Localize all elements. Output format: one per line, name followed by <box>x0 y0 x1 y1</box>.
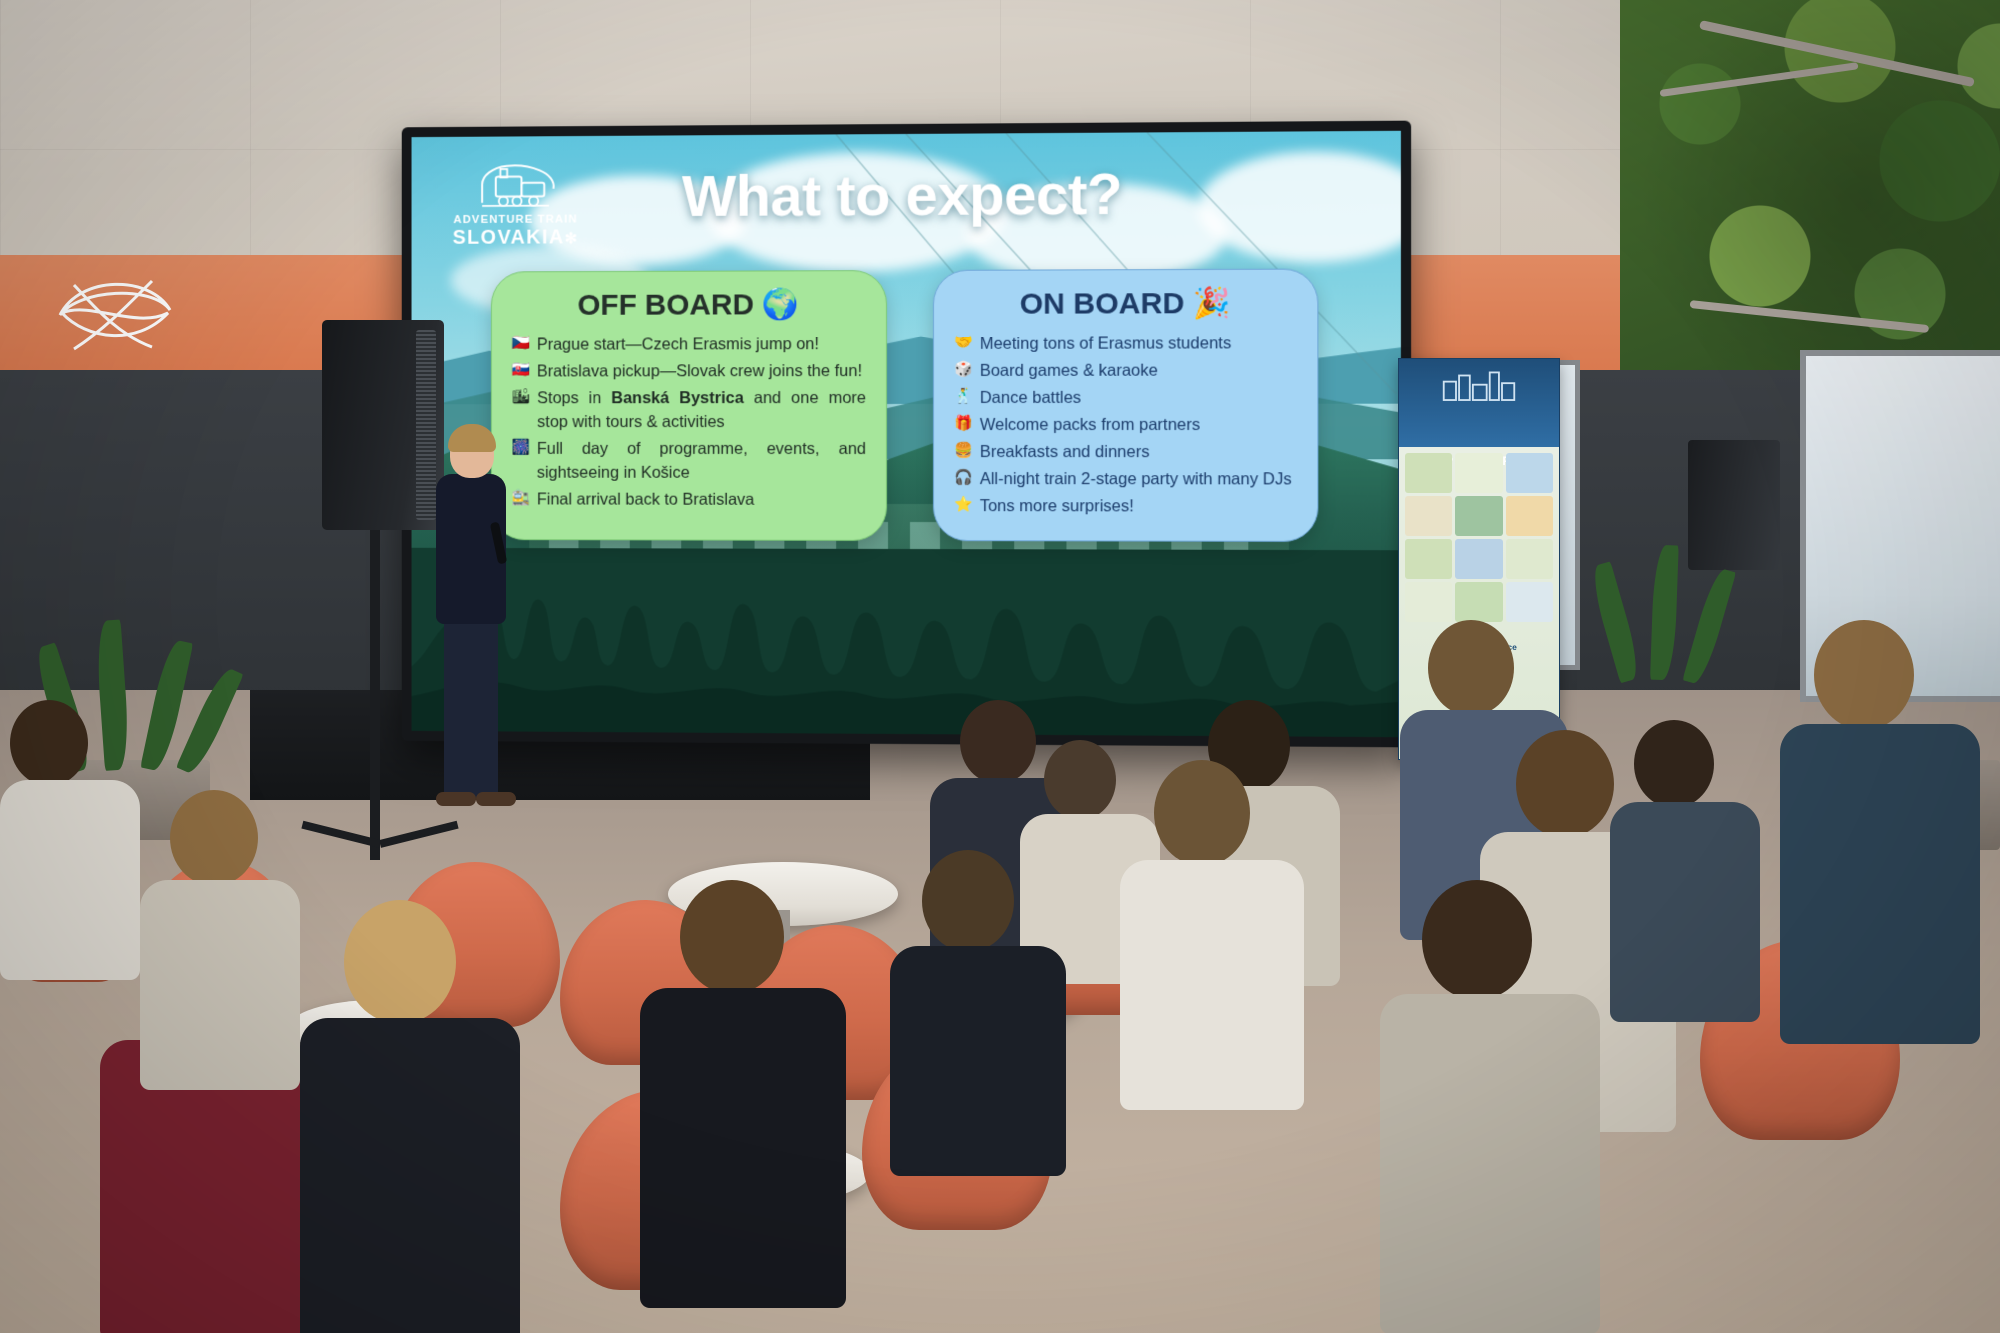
tile-graph-icon <box>1506 582 1553 622</box>
headphones-icon: 🎧 <box>954 467 973 491</box>
presenter <box>432 430 508 820</box>
presenter-shoe <box>436 792 476 806</box>
tile-building-icon <box>1455 539 1502 579</box>
pa-speaker-right <box>1688 440 1780 570</box>
off-board-list: 🇨🇿 Prague start—Czech Erasmis jump on! 🇸… <box>512 332 866 512</box>
city-skyline-icon <box>1433 367 1525 407</box>
tile-windmill-icon <box>1506 539 1553 579</box>
list-item: 🎲 Board games & karaoke <box>954 358 1297 383</box>
flag-sk-icon: 🇸🇰 <box>512 360 530 384</box>
list-item: 🤝 Meeting tons of Erasmus students <box>954 331 1297 356</box>
presenter-shoe <box>476 792 516 806</box>
projection-screen: ADVENTURE TRAIN SLOVAKIA✻ What to expect… <box>402 121 1411 748</box>
handshake-icon: 🤝 <box>954 332 973 356</box>
list-item: 🎆 Full day of programme, events, and sig… <box>512 437 866 485</box>
tile-bus-icon <box>1455 496 1502 536</box>
presenter-legs <box>444 618 498 798</box>
list-item: 🇸🇰 Bratislava pickup—Slovak crew joins t… <box>512 359 866 383</box>
tile-sun-icon <box>1506 496 1553 536</box>
tile-city-icon <box>1405 453 1452 493</box>
cityscape-icon: 🏙 <box>512 387 531 435</box>
card-off-board-heading: OFF BOARD 🌍 <box>512 287 866 323</box>
presentation-slide: ADVENTURE TRAIN SLOVAKIA✻ What to expect… <box>412 131 1401 737</box>
list-item: 🕺 Dance battles <box>954 386 1297 410</box>
fireworks-icon: 🎆 <box>512 437 530 485</box>
off-board-item-3-text: Stops in Banská Bystrica and one more st… <box>537 386 866 434</box>
gift-icon: 🎁 <box>954 413 973 437</box>
list-item: 🇨🇿 Prague start—Czech Erasmis jump on! <box>512 332 866 357</box>
dancer-icon: 🕺 <box>954 386 973 410</box>
tile-train-icon <box>1455 582 1502 622</box>
tile-tree-icon <box>1455 453 1502 493</box>
card-off-board: OFF BOARD 🌍 🇨🇿 Prague start—Czech Erasmi… <box>491 270 887 540</box>
list-item: 🏙 Stops in Banská Bystrica and one more … <box>512 386 866 434</box>
slide-title: What to expect? <box>412 159 1401 231</box>
card-on-board-heading: ON BOARD 🎉 <box>954 286 1297 322</box>
wall-logo <box>40 255 190 375</box>
list-item: 🚉 Final arrival back to Bratislava <box>512 488 866 512</box>
tile-solar-panel-icon <box>1405 582 1452 622</box>
station-icon: 🚉 <box>512 488 530 512</box>
tile-car-icon <box>1506 453 1553 493</box>
tile-people-icon <box>1405 496 1452 536</box>
flag-cz-icon: 🇨🇿 <box>512 333 530 357</box>
dice-icon: 🎲 <box>954 359 973 383</box>
star-icon: ⭐ <box>954 495 973 519</box>
globe-icon: 🌍 <box>762 288 799 321</box>
speaker-tripod-pole <box>370 530 380 860</box>
list-item: ⭐ Tons more surprises! <box>954 495 1297 520</box>
banner-header: PIONEER <box>1399 359 1559 447</box>
card-on-board: ON BOARD 🎉 🤝 Meeting tons of Erasmus stu… <box>933 269 1318 542</box>
slide-cards: OFF BOARD 🌍 🇨🇿 Prague start—Czech Erasmi… <box>412 268 1401 541</box>
on-board-list: 🤝 Meeting tons of Erasmus students 🎲 Boa… <box>954 331 1297 519</box>
list-item: 🎧 All-night train 2-stage party with man… <box>954 467 1297 492</box>
tile-bike-icon <box>1405 539 1452 579</box>
pa-speaker-left <box>322 320 444 530</box>
speaker-tripod-legs <box>300 840 460 856</box>
list-item: 🎁 Welcome packs from partners <box>954 413 1297 437</box>
banner-icon-grid <box>1399 447 1559 628</box>
list-item: 🍔 Breakfasts and dinners <box>954 440 1297 464</box>
conference-hall-scene: ADVENTURE TRAIN SLOVAKIA✻ What to expect… <box>0 0 2000 1333</box>
party-icon: 🎉 <box>1193 287 1231 320</box>
burger-icon: 🍔 <box>954 440 973 464</box>
